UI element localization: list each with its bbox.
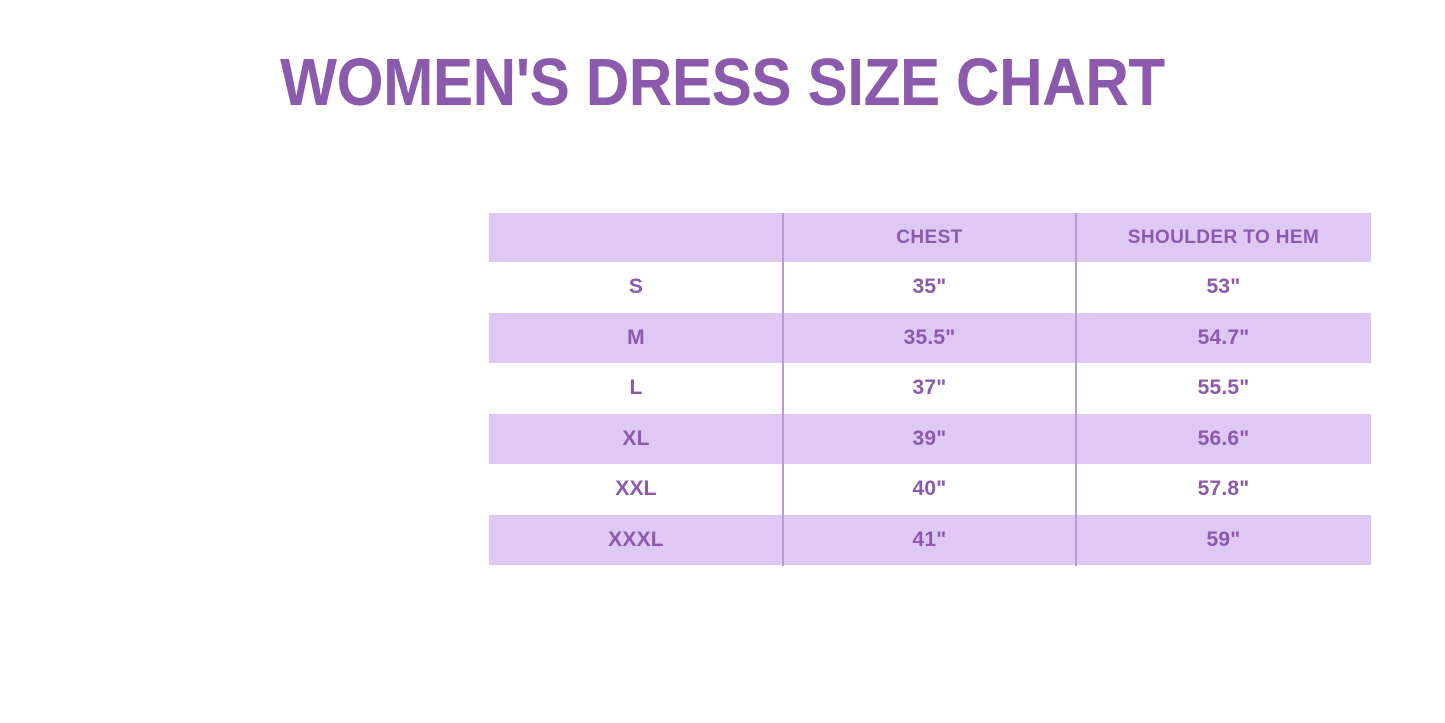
- column-header-shoulder-to-hem: SHOULDER TO HEM: [1076, 213, 1371, 262]
- table-row: S 35" 53": [489, 262, 1371, 313]
- cell-chest: 35.5": [783, 313, 1076, 364]
- table-row: L 37" 55.5": [489, 363, 1371, 414]
- cell-size: XXXL: [489, 515, 783, 566]
- cell-chest: 37": [783, 363, 1076, 414]
- table-row: M 35.5" 54.7": [489, 313, 1371, 364]
- cell-chest: 35": [783, 262, 1076, 313]
- cell-shoulder-to-hem: 56.6": [1076, 414, 1371, 465]
- cell-shoulder-to-hem: 57.8": [1076, 464, 1371, 515]
- cell-chest: 40": [783, 464, 1076, 515]
- column-header-chest: CHEST: [783, 213, 1076, 262]
- table-row: XXL 40" 57.8": [489, 464, 1371, 515]
- cell-size: XL: [489, 414, 783, 465]
- cell-shoulder-to-hem: 59": [1076, 515, 1371, 566]
- cell-size: L: [489, 363, 783, 414]
- cell-chest: 39": [783, 414, 1076, 465]
- cell-size: XXL: [489, 464, 783, 515]
- size-chart-table: CHEST SHOULDER TO HEM S 35" 53" M 35.5" …: [489, 213, 1371, 565]
- cell-shoulder-to-hem: 55.5": [1076, 363, 1371, 414]
- column-header-size: [489, 213, 783, 262]
- size-chart-table-wrapper: CHEST SHOULDER TO HEM S 35" 53" M 35.5" …: [489, 213, 1371, 566]
- cell-size: S: [489, 262, 783, 313]
- cell-shoulder-to-hem: 53": [1076, 262, 1371, 313]
- page-title: WOMEN'S DRESS SIZE CHART: [72, 48, 1373, 118]
- cell-chest: 41": [783, 515, 1076, 566]
- table-row: XXXL 41" 59": [489, 515, 1371, 566]
- table-row: XL 39" 56.6": [489, 414, 1371, 465]
- cell-size: M: [489, 313, 783, 364]
- table-header-row: CHEST SHOULDER TO HEM: [489, 213, 1371, 262]
- size-chart-page: WOMEN'S DRESS SIZE CHART CHEST SHOULDER …: [0, 0, 1445, 723]
- cell-shoulder-to-hem: 54.7": [1076, 313, 1371, 364]
